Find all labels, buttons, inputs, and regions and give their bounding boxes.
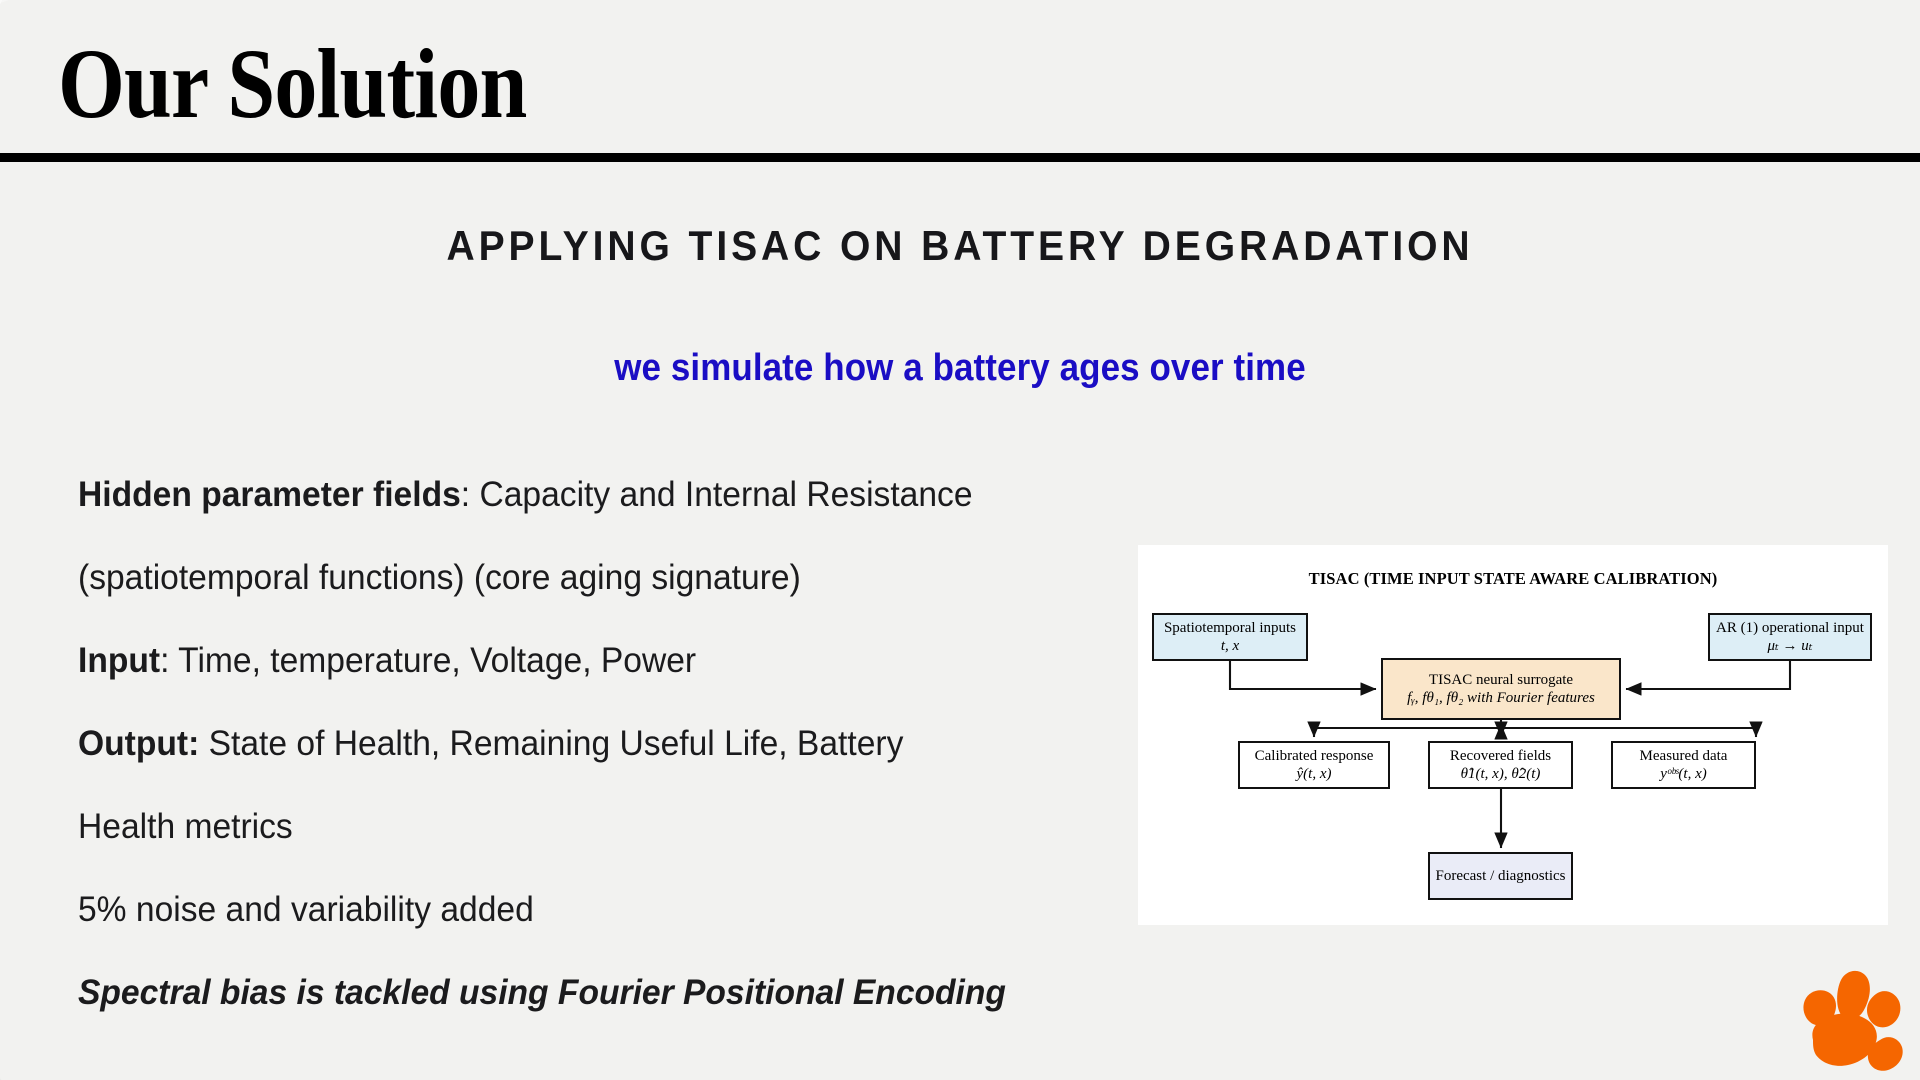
- body-line-bold: Hidden parameter fields: [78, 475, 461, 514]
- blue-subtitle: we simulate how a battery ages over time: [77, 347, 1843, 390]
- arrow-ar-to-surrogate: [1626, 661, 1790, 689]
- node-ar-operational-input: AR (1) operational input μₜ → uₜ: [1708, 613, 1872, 661]
- node-formula: ŷ(t, x): [1297, 765, 1332, 783]
- node-formula: yᵒᵇˢ(t, x): [1660, 765, 1706, 783]
- body-line-rest: Spectral bias is tackled using Fourier P…: [78, 973, 1006, 1012]
- node-label: TISAC neural surrogate: [1429, 671, 1573, 689]
- node-label: Recovered fields: [1450, 747, 1551, 765]
- body-copy-block: Hidden parameter fields: Capacity and In…: [78, 453, 1138, 1034]
- tisac-architecture-figure: TISAC (TIME INPUT STATE AWARE CALIBRATIO…: [1138, 545, 1888, 925]
- node-formula: fᵧ, fθ₁, fθ₂ with Fourier features: [1407, 689, 1595, 707]
- body-line: (spatiotemporal functions) (core aging s…: [78, 536, 1096, 619]
- node-calibrated-response: Calibrated response ŷ(t, x): [1238, 741, 1390, 789]
- slide-title: Our Solution: [58, 34, 526, 134]
- body-line-rest: (spatiotemporal functions) (core aging s…: [78, 558, 801, 597]
- body-line: Health metrics: [78, 785, 1096, 868]
- node-forecast-diagnostics: Forecast / diagnostics: [1428, 852, 1573, 900]
- body-line: Hidden parameter fields: Capacity and In…: [78, 453, 1096, 536]
- node-label: Forecast / diagnostics: [1436, 867, 1566, 885]
- node-label: Calibrated response: [1255, 747, 1374, 765]
- node-spatiotemporal-inputs: Spatiotemporal inputs t, x: [1152, 613, 1308, 661]
- node-label: AR (1) operational input: [1716, 619, 1864, 637]
- arrow-spatio-to-surrogate: [1230, 661, 1376, 689]
- node-tisac-neural-surrogate: TISAC neural surrogate fᵧ, fθ₁, fθ₂ with…: [1381, 658, 1621, 720]
- body-line: 5% noise and variability added: [78, 868, 1096, 951]
- body-line-bold: Input: [78, 641, 160, 680]
- section-heading: APPLYING TISAC ON BATTERY DEGRADATION: [67, 222, 1853, 270]
- node-label: Spatiotemporal inputs: [1164, 619, 1296, 637]
- node-measured-data: Measured data yᵒᵇˢ(t, x): [1611, 741, 1756, 789]
- clemson-tiger-paw-logo: [1796, 968, 1908, 1076]
- body-line-bold: Output:: [78, 724, 199, 763]
- node-label: Measured data: [1640, 747, 1728, 765]
- body-line: Output: State of Health, Remaining Usefu…: [78, 702, 1096, 785]
- body-line-rest: State of Health, Remaining Useful Life, …: [199, 724, 903, 763]
- body-line-rest: Health metrics: [78, 807, 293, 846]
- body-line: Input: Time, temperature, Voltage, Power: [78, 619, 1096, 702]
- node-formula: θ̂1(t, x), θ̂2(t): [1461, 765, 1541, 783]
- node-formula: μₜ → uₜ: [1768, 637, 1813, 655]
- title-divider-rule: [0, 153, 1920, 162]
- body-line-emphasis: Spectral bias is tackled using Fourier P…: [78, 951, 1096, 1034]
- body-line-rest: : Time, temperature, Voltage, Power: [160, 641, 696, 680]
- body-line-rest: 5% noise and variability added: [78, 890, 534, 929]
- body-line-rest: : Capacity and Internal Resistance: [461, 475, 973, 514]
- node-formula: t, x: [1221, 637, 1239, 655]
- node-recovered-fields: Recovered fields θ̂1(t, x), θ̂2(t): [1428, 741, 1573, 789]
